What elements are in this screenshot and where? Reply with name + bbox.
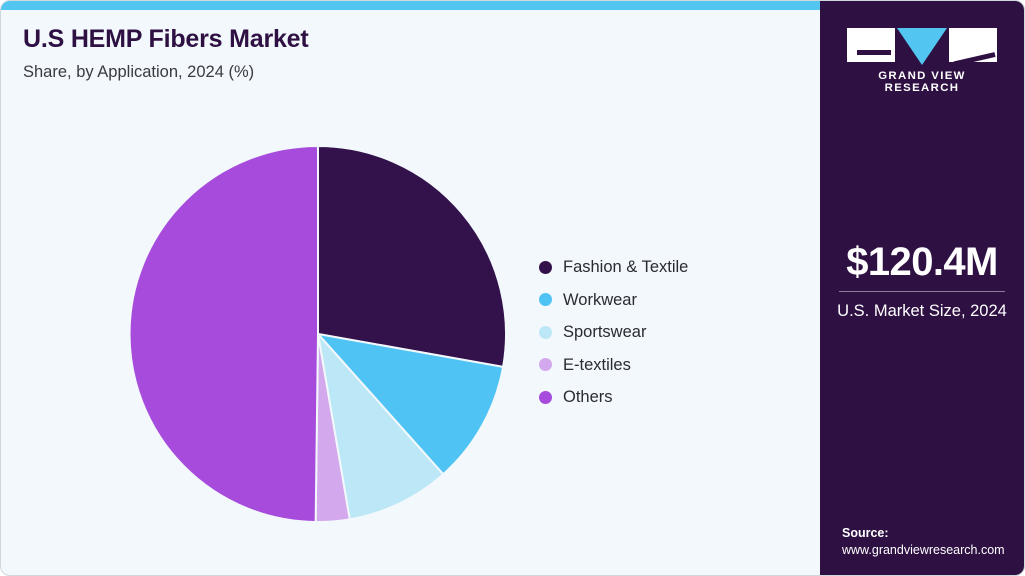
source-url[interactable]: www.grandviewresearch.com: [842, 542, 1005, 559]
chart-legend: Fashion & TextileWorkwearSportswearE-tex…: [539, 251, 789, 414]
brand-sidebar: GRAND VIEW RESEARCH $120.4M U.S. Market …: [820, 1, 1024, 576]
chart-header: U.S HEMP Fibers Market Share, by Applica…: [1, 10, 822, 81]
logo-g-icon: [847, 28, 895, 62]
legend-swatch-icon: [539, 326, 552, 339]
legend-item: Others: [539, 381, 789, 414]
infographic-card: U.S HEMP Fibers Market Share, by Applica…: [0, 0, 1025, 576]
pie-chart-svg: [129, 145, 507, 523]
legend-item: E-textiles: [539, 349, 789, 382]
market-size-kpi: $120.4M U.S. Market Size, 2024: [834, 242, 1010, 322]
page-subtitle: Share, by Application, 2024 (%): [23, 63, 822, 82]
legend-item: Sportswear: [539, 316, 789, 349]
legend-label: Others: [563, 389, 613, 406]
source-label: Source:: [842, 525, 1005, 542]
kpi-caption: U.S. Market Size, 2024: [834, 301, 1010, 322]
logo-r-icon: [949, 28, 997, 62]
top-accent-bar: [1, 1, 822, 10]
source-block: Source: www.grandviewresearch.com: [842, 525, 1005, 559]
logo-wordmark: GRAND VIEW RESEARCH: [847, 70, 997, 94]
legend-label: Fashion & Textile: [563, 259, 688, 276]
legend-swatch-icon: [539, 391, 552, 404]
pie-slice: [130, 146, 318, 522]
legend-swatch-icon: [539, 293, 552, 306]
brand-logo: GRAND VIEW RESEARCH: [847, 28, 997, 94]
page-title: U.S HEMP Fibers Market: [23, 26, 822, 54]
legend-swatch-icon: [539, 261, 552, 274]
chart-area: Fashion & TextileWorkwearSportswearE-tex…: [1, 101, 822, 576]
legend-item: Workwear: [539, 284, 789, 317]
logo-v-triangle-icon: [897, 28, 947, 65]
legend-item: Fashion & Textile: [539, 251, 789, 284]
legend-swatch-icon: [539, 358, 552, 371]
logo-letter-marks: [847, 28, 997, 62]
legend-label: E-textiles: [563, 357, 631, 374]
kpi-value: $120.4M: [834, 242, 1010, 282]
pie-slice: [318, 146, 506, 367]
legend-label: Sportswear: [563, 324, 646, 341]
pie-chart: [129, 145, 507, 523]
legend-label: Workwear: [563, 292, 637, 309]
kpi-divider: [839, 291, 1005, 292]
